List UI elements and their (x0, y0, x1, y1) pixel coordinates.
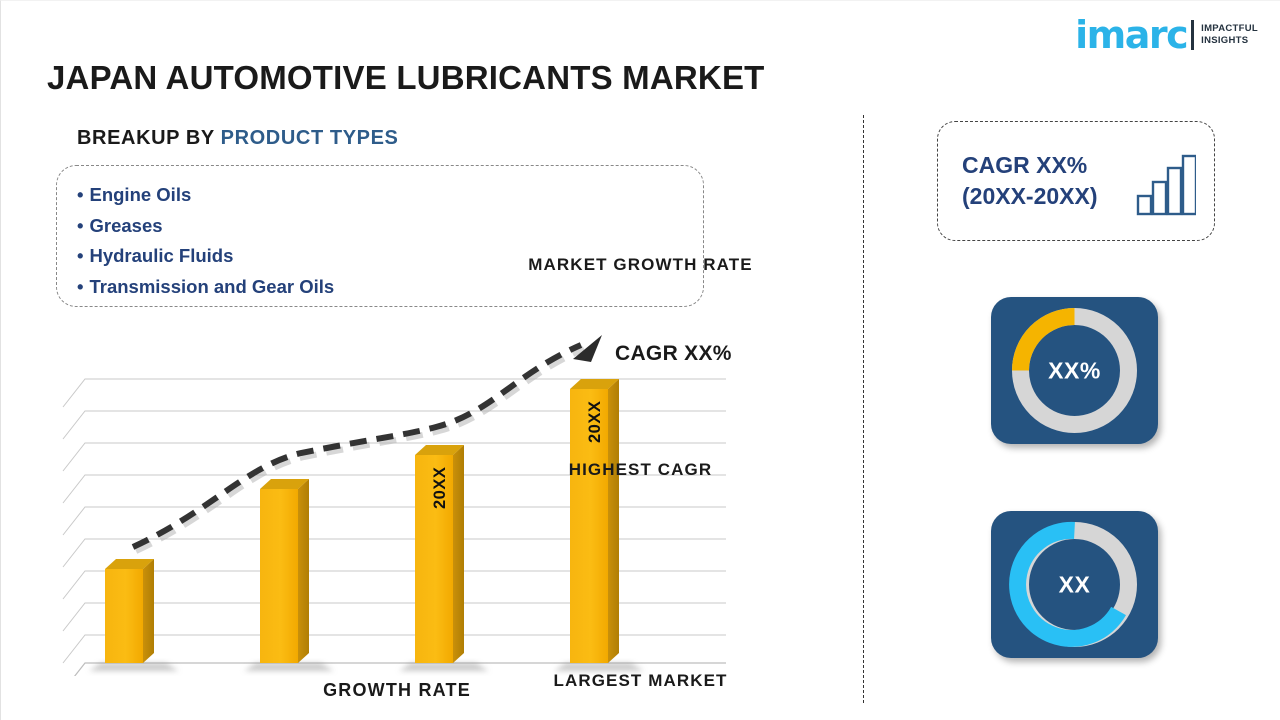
growth-rate-chart: CAGR XX% 20XX 20XX GROWTH RATE (61, 331, 761, 711)
bar-4-year-label: 20XX (586, 401, 605, 443)
bar-shadows (89, 663, 644, 671)
highest-cagr-value: XX% (991, 357, 1158, 384)
logo-tagline: IMPACTFUL INSIGHTS (1201, 23, 1258, 47)
chart-svg (61, 331, 761, 676)
product-types-box: •Engine Oils •Greases •Hydraulic Fluids … (56, 165, 704, 307)
bar-1 (105, 559, 154, 663)
list-item-label: Engine Oils (89, 184, 191, 205)
section-subtitle: BREAKUP BY PRODUCT TYPES (77, 127, 399, 150)
panel-divider (863, 115, 864, 703)
logo-wordmark: imarc (1075, 16, 1187, 54)
imarc-logo: imarc IMPACTFUL INSIGHTS (1075, 15, 1258, 55)
cagr-line2: (20XX-20XX) (962, 181, 1098, 212)
list-item: •Engine Oils (77, 180, 703, 211)
logo-tagline-line1: IMPACTFUL (1201, 23, 1258, 35)
list-item: •Greases (77, 211, 703, 242)
market-growth-rate-box: CAGR XX% (20XX-20XX) (937, 121, 1215, 241)
slide-canvas: imarc IMPACTFUL INSIGHTS JAPAN AUTOMOTIV… (0, 0, 1280, 720)
largest-market-value: XX (991, 571, 1158, 598)
market-growth-rate-caption: MARKET GROWTH RATE (1, 255, 1280, 275)
subtitle-prefix: BREAKUP BY (77, 127, 221, 149)
highest-cagr-caption: HIGHEST CAGR (1, 460, 1280, 480)
chart-cagr-annotation: CAGR XX% (615, 342, 732, 366)
chart-gridlines (63, 379, 726, 663)
largest-market-caption: LARGEST MARKET (1, 671, 1280, 691)
logo-tagline-line2: INSIGHTS (1201, 35, 1258, 47)
list-item: •Transmission and Gear Oils (77, 272, 703, 303)
bullet-icon: • (77, 215, 83, 236)
subtitle-accent: PRODUCT TYPES (221, 127, 399, 149)
bar-chart-icon (1136, 154, 1196, 216)
cagr-line1: CAGR XX% (962, 150, 1098, 181)
highest-cagr-tile: XX% (991, 297, 1158, 444)
list-item-label: Greases (89, 215, 162, 236)
page-title: JAPAN AUTOMOTIVE LUBRICANTS MARKET (47, 59, 765, 97)
bar-2 (260, 479, 309, 663)
list-item-label: Transmission and Gear Oils (89, 276, 334, 297)
largest-market-tile: XX (991, 511, 1158, 658)
bullet-icon: • (77, 276, 83, 297)
logo-divider-icon (1191, 20, 1194, 50)
cagr-text: CAGR XX% (20XX-20XX) (962, 150, 1098, 212)
bullet-icon: • (77, 184, 83, 205)
